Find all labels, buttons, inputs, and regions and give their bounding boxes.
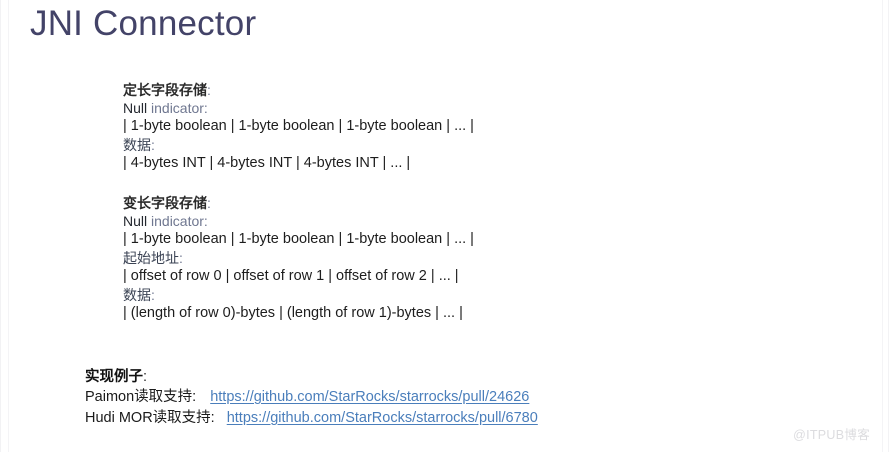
example-row-hudi: Hudi MOR读取支持: https://github.com/StarRoc… bbox=[85, 408, 825, 429]
example-link-hudi[interactable]: https://github.com/StarRocks/starrocks/p… bbox=[227, 408, 538, 429]
schema-block-heading-text: 定长字段存储 bbox=[123, 82, 207, 98]
example-label-paimon: Paimon读取支持: bbox=[85, 387, 196, 408]
field-label-data: 数据: bbox=[123, 136, 763, 154]
field-label-rest: indicator: bbox=[147, 100, 208, 116]
slide-left-edge-rule bbox=[8, 0, 9, 452]
example-row-paimon: Paimon读取支持: https://github.com/StarRocks… bbox=[85, 387, 825, 408]
schema-block-heading-colon: : bbox=[207, 82, 211, 98]
examples-heading: 实现例子: bbox=[85, 367, 825, 387]
field-label-null-indicator: Null indicator: bbox=[123, 99, 763, 117]
field-label-data: 数据: bbox=[123, 286, 763, 304]
schema-block-heading-text: 变长字段存储 bbox=[123, 195, 207, 211]
layout-row-data: | 4-bytes INT | 4-bytes INT | 4-bytes IN… bbox=[123, 154, 763, 173]
field-label-lead: 起始地址 bbox=[123, 250, 179, 266]
layout-row-null-indicator: | 1-byte boolean | 1-byte boolean | 1-by… bbox=[123, 117, 763, 136]
layout-row-data: | (length of row 0)-bytes | (length of r… bbox=[123, 304, 763, 323]
field-label-rest: : bbox=[179, 250, 183, 266]
field-label-rest: : bbox=[151, 137, 155, 153]
field-label-lead: 数据 bbox=[123, 287, 151, 303]
implementation-examples-section: 实现例子: Paimon读取支持: https://github.com/Sta… bbox=[85, 367, 825, 429]
schema-description-area: 定长字段存储: Null indicator: | 1-byte boolean… bbox=[123, 81, 763, 323]
layout-row-offsets: | offset of row 0 | offset of row 1 | of… bbox=[123, 267, 763, 286]
watermark: @ITPUB博客 bbox=[793, 427, 870, 443]
example-label-hudi: Hudi MOR读取支持: bbox=[85, 408, 215, 429]
slide-right-edge-rule bbox=[882, 0, 883, 452]
field-label-start-address: 起始地址: bbox=[123, 249, 763, 267]
page-title: JNI Connector bbox=[30, 2, 256, 46]
presentation-slide: JNI Connector 定长字段存储: Null indicator: | … bbox=[0, 0, 889, 452]
field-label-rest: indicator: bbox=[147, 213, 208, 229]
layout-row-null-indicator: | 1-byte boolean | 1-byte boolean | 1-by… bbox=[123, 230, 763, 249]
field-label-lead: Null bbox=[123, 100, 147, 116]
field-label-lead: 数据 bbox=[123, 137, 151, 153]
schema-block-fixed-length: 定长字段存储: Null indicator: | 1-byte boolean… bbox=[123, 81, 763, 173]
schema-block-heading: 定长字段存储: bbox=[123, 81, 763, 99]
field-label-lead: Null bbox=[123, 213, 147, 229]
examples-heading-text: 实现例子 bbox=[85, 369, 143, 385]
schema-block-heading: 变长字段存储: bbox=[123, 194, 763, 212]
schema-block-variable-length: 变长字段存储: Null indicator: | 1-byte boolean… bbox=[123, 194, 763, 323]
field-label-rest: : bbox=[151, 287, 155, 303]
example-link-paimon[interactable]: https://github.com/StarRocks/starrocks/p… bbox=[210, 387, 529, 408]
schema-block-heading-colon: : bbox=[207, 195, 211, 211]
examples-heading-colon: : bbox=[143, 369, 147, 385]
field-label-null-indicator: Null indicator: bbox=[123, 212, 763, 230]
